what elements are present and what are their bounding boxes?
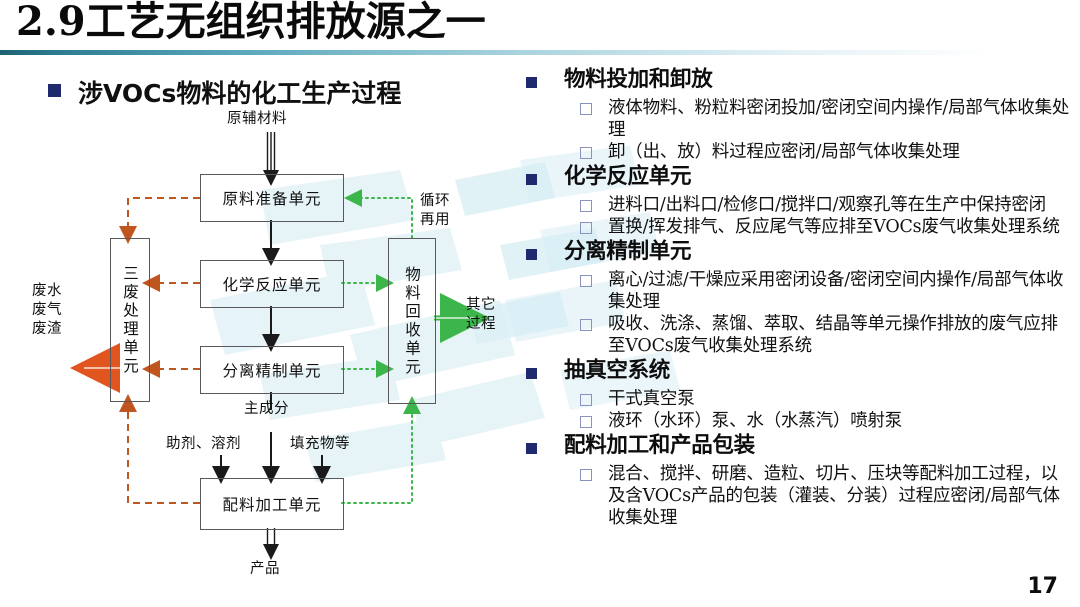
bullet-sub-item: 置换/挥发排气、反应尾气等应排至VOCs废气收集处理系统 (518, 216, 1074, 238)
bullet-hollow-square-icon (580, 394, 592, 406)
bullet-sub-item: 卸（出、放）料过程应密闭/局部气体收集处理 (518, 141, 1074, 163)
flow-box-raw-material-prep[interactable]: 原料准备单元 (200, 174, 344, 222)
bullet-square-icon (526, 77, 537, 88)
bullet-hollow-square-icon (580, 275, 592, 287)
section-subtitle: 涉VOCs物料的化工生产过程 (78, 74, 401, 110)
sub-item-text: 干式真空泵 (608, 389, 695, 409)
heading-text: 化学反应单元 (564, 164, 691, 189)
flow-label-waste-output: 废水 废气 废渣 (32, 282, 62, 339)
bullet-hollow-square-icon (580, 200, 592, 212)
bullet-sub-item: 吸收、洗涤、蒸馏、萃取、结晶等单元操作排放的废气应排至VOCs废气收集处理系统 (518, 313, 1074, 357)
flow-label-filler-etc: 填充物等 (290, 435, 350, 454)
flow-box-chemical-reaction[interactable]: 化学反应单元 (200, 260, 344, 308)
flow-box-batching-processing[interactable]: 配料加工单元 (200, 478, 344, 530)
bullet-square-icon (526, 368, 537, 379)
title-divider (0, 50, 1080, 55)
flow-label-additive-solvent: 助剂、溶剂 (166, 435, 241, 454)
sub-item-text: 液体物料、粉粒料密闭投加/密闭空间内操作/局部气体收集处理 (608, 98, 1069, 140)
bullet-sub-item: 干式真空泵 (518, 388, 1074, 410)
bullet-hollow-square-icon (580, 147, 592, 159)
bullet-square-icon (526, 249, 537, 260)
flow-label-recycle-reuse: 循环 再用 (420, 192, 450, 230)
bullet-hollow-square-icon (580, 319, 592, 331)
sub-item-text: 卸（出、放）料过程应密闭/局部气体收集处理 (608, 142, 960, 162)
heading-text: 物料投加和卸放 (564, 67, 712, 92)
bullet-list-panel: 物料投加和卸放 液体物料、粉粒料密闭投加/密闭空间内操作/局部气体收集处理 卸（… (518, 66, 1074, 529)
bullet-section-heading: 抽真空系统 (518, 357, 1074, 387)
sub-item-text: 置换/挥发排气、反应尾气等应排至VOCs废气收集处理系统 (608, 217, 1060, 237)
bullet-square-icon (526, 443, 537, 454)
sub-item-text: 混合、搅拌、研磨、造粒、切片、压块等配料加工过程，以及含VOCs产品的包装（灌装… (608, 464, 1060, 528)
sub-item-text: 进料口/出料口/检修口/搅拌口/观察孔等在生产中保持密闭 (608, 195, 1046, 215)
bullet-hollow-square-icon (580, 222, 592, 234)
sub-item-text: 吸收、洗涤、蒸馏、萃取、结晶等单元操作排放的废气应排至VOCs废气收集处理系统 (608, 314, 1058, 356)
bullet-sub-item: 进料口/出料口/检修口/搅拌口/观察孔等在生产中保持密闭 (518, 194, 1074, 216)
flow-label-other-process: 其它 过程 (466, 296, 496, 334)
bullet-sub-item: 液环（水环）泵、水（水蒸汽）喷射泵 (518, 410, 1074, 432)
flow-label-input-raw: 原辅材料 (227, 110, 287, 129)
heading-text: 抽真空系统 (564, 358, 670, 383)
flow-label-product-output: 产品 (250, 560, 280, 579)
page-title: 2.9工艺无组织排放源之一 (16, 0, 486, 46)
flow-box-material-recovery[interactable]: 物料回收单元 (388, 238, 436, 404)
flow-box-waste-treatment[interactable]: 三废处理单元 (110, 238, 150, 402)
sub-item-text: 离心/过滤/干燥应采用密闭设备/密闭空间内操作/局部气体收集处理 (608, 270, 1063, 312)
bullet-sub-item: 混合、搅拌、研磨、造粒、切片、压块等配料加工过程，以及含VOCs产品的包装（灌装… (518, 463, 1074, 529)
subtitle-bullet-icon (48, 84, 61, 97)
bullet-sub-item: 离心/过滤/干燥应采用密闭设备/密闭空间内操作/局部气体收集处理 (518, 269, 1074, 313)
bullet-section-heading: 配料加工和产品包装 (518, 432, 1074, 462)
flow-box-separation-refine[interactable]: 分离精制单元 (200, 346, 344, 394)
bullet-section-heading: 分离精制单元 (518, 238, 1074, 268)
flow-label-main-component: 主成分 (244, 400, 289, 419)
process-flow-diagram: 原料准备单元 化学反应单元 分离精制单元 配料加工单元 三废处理单元 物料回收单… (0, 110, 520, 570)
bullet-hollow-square-icon (580, 469, 592, 481)
bullet-section-heading: 物料投加和卸放 (518, 66, 1074, 96)
bullet-square-icon (526, 174, 537, 185)
page-number: 17 (1027, 574, 1058, 599)
heading-text: 配料加工和产品包装 (564, 433, 755, 458)
bullet-hollow-square-icon (580, 416, 592, 428)
bullet-hollow-square-icon (580, 103, 592, 115)
bullet-sub-item: 液体物料、粉粒料密闭投加/密闭空间内操作/局部气体收集处理 (518, 97, 1074, 141)
bullet-section-heading: 化学反应单元 (518, 163, 1074, 193)
sub-item-text: 液环（水环）泵、水（水蒸汽）喷射泵 (608, 411, 902, 431)
slide-canvas: 2.9工艺无组织排放源之一 涉VOCs物料的化工生产过程 (0, 0, 1080, 607)
heading-text: 分离精制单元 (564, 239, 691, 264)
